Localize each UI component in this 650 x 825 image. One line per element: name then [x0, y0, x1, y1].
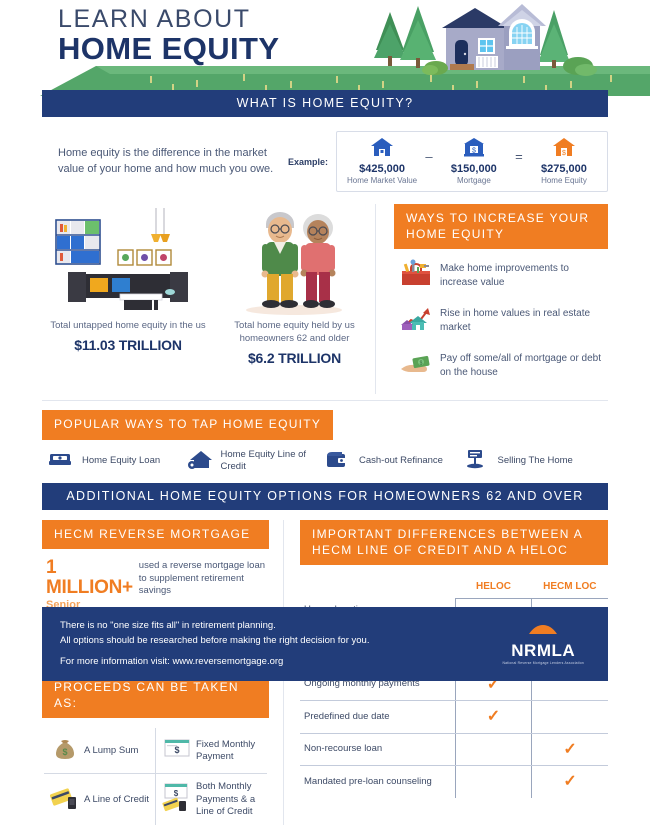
proceeds-label: A Line of Credit: [84, 794, 149, 806]
ways-item: Rise in home values in real estate marke…: [394, 304, 608, 337]
footer-line-3[interactable]: For more information visit: www.reversem…: [60, 655, 369, 669]
stat-value: $6.2 TRILLION: [220, 350, 369, 366]
example-amount: $425,000: [347, 163, 417, 175]
nrmla-roof-icon: [513, 623, 573, 637]
popular-label: Selling The Home: [498, 455, 573, 467]
toolbox-icon: [400, 259, 434, 287]
proceeds-item-line-of-credit: A Line of Credit: [44, 774, 156, 825]
popular-item: Home Equity Line of Credit: [187, 449, 326, 474]
home-equity-description: Home equity is the difference in the mar…: [42, 146, 274, 178]
column-header-feature: [300, 577, 455, 599]
svg-text:$: $: [562, 150, 566, 157]
ways-text: Rise in home values in real estate marke…: [440, 307, 608, 335]
house-orange-icon: $: [552, 137, 576, 157]
popular-icon-wrap: [187, 449, 221, 474]
house-growth-chart-icon: [400, 304, 434, 332]
footer-line-1: There is no "one size fits all" in retir…: [60, 619, 369, 633]
ways-text: Make home improvements to increase value: [440, 262, 608, 290]
proceeds-label: Both Monthly Payments & a Line of Credit: [196, 781, 265, 818]
proceeds-icon-wrap: $: [158, 782, 196, 817]
stat-untapped-equity: Total untapped home equity in the us $11…: [42, 204, 214, 384]
popular-label: Home Equity Loan: [82, 455, 160, 467]
banner-what-is-home-equity: WHAT IS HOME EQUITY?: [42, 90, 608, 117]
title-line-2: HOME EQUITY: [58, 32, 279, 65]
svg-text:$: $: [62, 747, 67, 757]
check-payment-icon: $: [163, 736, 191, 760]
check-card-icon: $: [162, 782, 192, 812]
proceeds-label: Fixed Monthly Payment: [196, 739, 265, 764]
example-item-market-value: $425,000 Home Market Value: [347, 137, 417, 185]
cell-heloc: [455, 766, 531, 798]
for-sale-sign-icon: [464, 449, 486, 469]
cell-heloc: ✓: [455, 701, 531, 734]
cash-stack-icon: [48, 450, 72, 468]
banner-popular-ways: POPULAR WAYS TO TAP HOME EQUITY: [42, 410, 333, 439]
operator-minus: –: [423, 149, 434, 164]
hecm-big-number: 1 MILLION+: [46, 558, 133, 598]
header: LEARN ABOUT HOME EQUITY: [0, 0, 650, 90]
example-caption: Home Equity: [531, 176, 597, 185]
proceeds-item-lump-sum: $ A Lump Sum: [44, 728, 156, 773]
example-amount: $275,000: [531, 163, 597, 175]
table-row: Non-recourse loan ✓: [300, 733, 608, 766]
popular-item: Home Equity Loan: [48, 450, 187, 473]
banner-ways-to-increase: WAYS TO INCREASE YOUR HOME EQUITY: [394, 204, 608, 249]
table-header-row: HELOC HECM LOC: [300, 577, 608, 599]
svg-text:$: $: [420, 361, 423, 367]
house-blue-icon: [370, 137, 394, 157]
operator-equals: =: [513, 149, 525, 164]
proceeds-item-both: $ Both Monthly Payments & a Line of Cred…: [156, 774, 267, 825]
stats-group: Total untapped home equity in the us $11…: [42, 204, 376, 394]
stat-illustration: [48, 204, 208, 316]
hand-cash-icon: $: [400, 349, 434, 377]
popular-item: Cash-out Refinance: [325, 450, 464, 473]
popular-label: Home Equity Line of Credit: [221, 449, 326, 474]
proceeds-item-fixed-monthly: $ Fixed Monthly Payment: [156, 728, 267, 773]
senior-couple-icon: [236, 206, 354, 316]
footer: There is no "one size fits all" in retir…: [42, 607, 608, 681]
bank-icon: $: [463, 137, 485, 157]
proceeds-label: A Lump Sum: [84, 745, 138, 757]
example-item-mortgage: $ $150,000 Mortgage: [441, 137, 507, 185]
example-caption: Mortgage: [441, 176, 507, 185]
popular-icon-wrap: [48, 450, 82, 473]
footer-line-2: All options should be researched before …: [60, 634, 369, 648]
example-label: Example:: [288, 157, 328, 167]
section-what-is-home-equity: Home equity is the difference in the mar…: [0, 117, 650, 200]
check-icon: ✓: [487, 708, 500, 725]
example-item-home-equity: $ $275,000 Home Equity: [531, 137, 597, 185]
cell-hecm-loc: [532, 701, 608, 734]
stat-senior-equity: Total home equity held by us homeowners …: [214, 204, 375, 384]
stat-caption: Total home equity held by us homeowners …: [220, 320, 369, 346]
section-statistics: Total untapped home equity in the us $11…: [0, 200, 650, 394]
check-icon: ✓: [563, 773, 576, 790]
proceeds-icon-wrap: $: [158, 736, 196, 765]
banner-important-differences: IMPORTANT DIFFERENCES BETWEEN A HECM LIN…: [300, 520, 608, 565]
ways-to-increase-list: Make home improvements to increase value…: [394, 259, 608, 382]
popular-item: Selling The Home: [464, 449, 603, 474]
ways-text: Pay off some/all of mortgage or debt on …: [440, 352, 608, 380]
section-popular-ways: POPULAR WAYS TO TAP HOME EQUITY Home Equ…: [0, 401, 650, 473]
svg-text:$: $: [472, 147, 476, 154]
wallet-icon: [325, 450, 347, 468]
house-key-icon: [187, 449, 213, 469]
proceeds-row: $ A Lump Sum $ Fixed Monthly P: [44, 728, 267, 774]
section-ways-to-increase: WAYS TO INCREASE YOUR HOME EQUITY: [376, 204, 608, 394]
ways-icon-wrap: $: [394, 349, 440, 382]
svg-text:$: $: [174, 789, 179, 798]
proceeds-grid: $ A Lump Sum $ Fixed Monthly P: [42, 728, 269, 825]
cell-hecm-loc: ✓: [532, 766, 608, 798]
ways-item: $ Pay off some/all of mortgage or debt o…: [394, 349, 608, 382]
cell-hecm-loc: ✓: [532, 733, 608, 766]
row-feature: Mandated pre-loan counseling: [300, 766, 455, 798]
check-icon: ✓: [563, 741, 576, 758]
stat-illustration: [220, 204, 369, 316]
money-bag-icon: $: [52, 735, 78, 761]
banner-additional-options: ADDITIONAL HOME EQUITY OPTIONS FOR HOMEO…: [42, 483, 608, 510]
popular-ways-list: Home Equity Loan Home Equity Line of Cre…: [42, 449, 608, 474]
example-amount: $150,000: [441, 163, 507, 175]
house-scene-illustration: [370, 0, 650, 86]
column-header-heloc: HELOC: [455, 577, 531, 599]
proceeds-icon-wrap: [46, 785, 84, 814]
stat-caption: Total untapped home equity in the us: [48, 320, 208, 333]
banner-hecm-reverse-mortgage: HECM REVERSE MORTGAGE: [42, 520, 269, 549]
row-feature: Non-recourse loan: [300, 733, 455, 766]
nrmla-logo: NRMLA National Reverse Mortgage Lenders …: [502, 623, 590, 665]
footer-text: There is no "one size fits all" in retir…: [60, 619, 369, 669]
footer-spacer: [60, 648, 369, 655]
svg-text:$: $: [174, 745, 179, 755]
title-line-1: LEARN ABOUT: [58, 6, 279, 32]
proceeds-icon-wrap: $: [46, 735, 84, 766]
nrmla-tagline: National Reverse Mortgage Lenders Associ…: [502, 661, 584, 665]
example-calculation: Example: $425,000 Home Market Value –: [274, 131, 608, 192]
stat-value: $11.03 TRILLION: [48, 337, 208, 353]
credit-card-icon: [50, 785, 80, 809]
popular-label: Cash-out Refinance: [359, 455, 443, 467]
table-row: Mandated pre-loan counseling ✓: [300, 766, 608, 798]
popular-icon-wrap: [464, 449, 498, 474]
ways-icon-wrap: [394, 304, 440, 337]
page-title: LEARN ABOUT HOME EQUITY: [58, 6, 279, 66]
table-row: Predefined due date ✓: [300, 701, 608, 734]
ways-item: Make home improvements to increase value: [394, 259, 608, 292]
proceeds-row: A Line of Credit $ Both Monthly Pa: [44, 774, 267, 825]
row-feature: Predefined due date: [300, 701, 455, 734]
example-box: $425,000 Home Market Value – $ $150,000 …: [336, 131, 608, 192]
living-room-icon: [48, 206, 208, 316]
column-header-hecm-loc: HECM LOC: [532, 577, 608, 599]
nrmla-wordmark: NRMLA: [502, 642, 584, 659]
ways-icon-wrap: [394, 259, 440, 292]
example-caption: Home Market Value: [347, 176, 417, 185]
popular-icon-wrap: [325, 450, 359, 473]
cell-heloc: [455, 733, 531, 766]
